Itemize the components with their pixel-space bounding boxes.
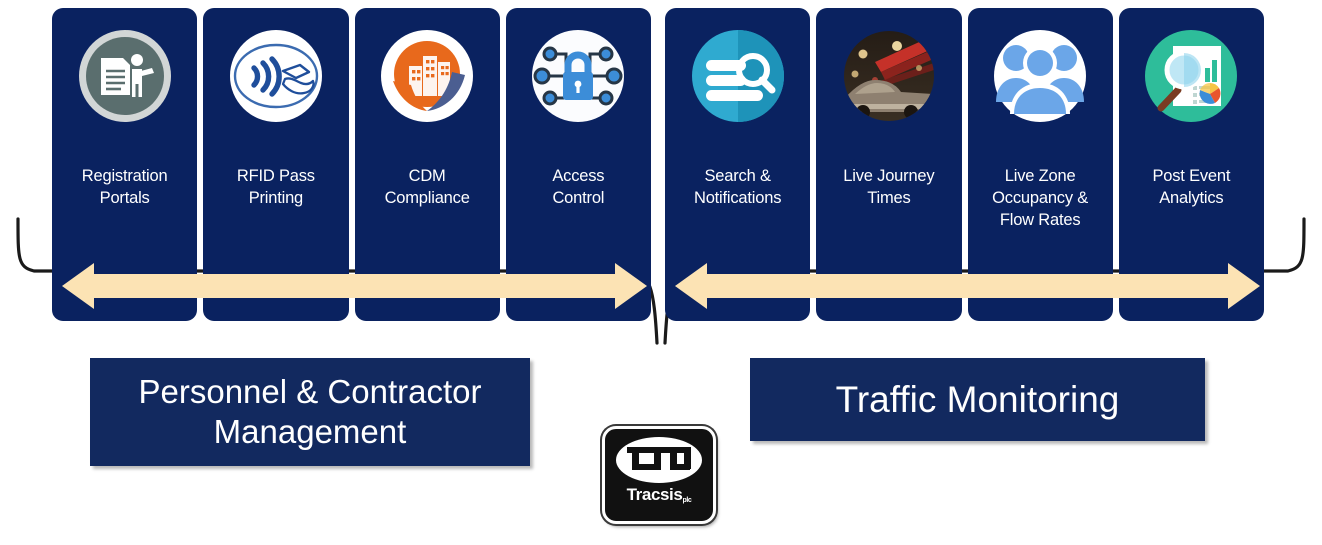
- people-group-icon: [992, 28, 1088, 124]
- card-label: CDM Compliance: [355, 166, 500, 210]
- card-label: Registration Portals: [52, 166, 197, 210]
- card-label: Post Event Analytics: [1119, 166, 1264, 210]
- tracsis-logo[interactable]: Tracsisplc: [598, 424, 716, 524]
- night-traffic-photo-icon: [841, 28, 937, 124]
- group-personnel: Registration Portals RFID Pass Printing: [52, 8, 657, 321]
- tracsis-wordmark: Tracsisplc: [627, 485, 692, 505]
- bidirectional-arrow-traffic: [675, 263, 1260, 309]
- bidirectional-arrow-personnel: [62, 263, 647, 309]
- padlock-network-icon: [530, 28, 626, 124]
- contactless-rfid-card-icon: [228, 28, 324, 124]
- card-label: Search & Notifications: [665, 166, 810, 210]
- diagram-canvas: Registration Portals RFID Pass Printing: [0, 0, 1322, 545]
- tracsis-wordmark-text: Tracsis: [627, 485, 683, 504]
- search-list-magnifier-icon: [690, 28, 786, 124]
- card-label: Live Journey Times: [816, 166, 961, 210]
- tracsis-plc-suffix: plc: [682, 497, 691, 504]
- tracsis-logo-box: Tracsisplc: [602, 426, 716, 524]
- card-label: RFID Pass Printing: [203, 166, 348, 210]
- registration-document-person-icon: [77, 28, 173, 124]
- band-traffic-monitoring: Traffic Monitoring: [750, 358, 1205, 441]
- card-label: Live Zone Occupancy & Flow Rates: [968, 166, 1113, 231]
- card-label: Access Control: [506, 166, 651, 210]
- tracsis-track-monogram: [615, 436, 703, 484]
- band-personnel-contractor-management: Personnel & Contractor Management: [90, 358, 530, 466]
- group-traffic: Search & Notifications: [665, 8, 1270, 321]
- analytics-report-magnifier-icon: [1143, 28, 1239, 124]
- cdm-building-checkmark-icon: [379, 28, 475, 124]
